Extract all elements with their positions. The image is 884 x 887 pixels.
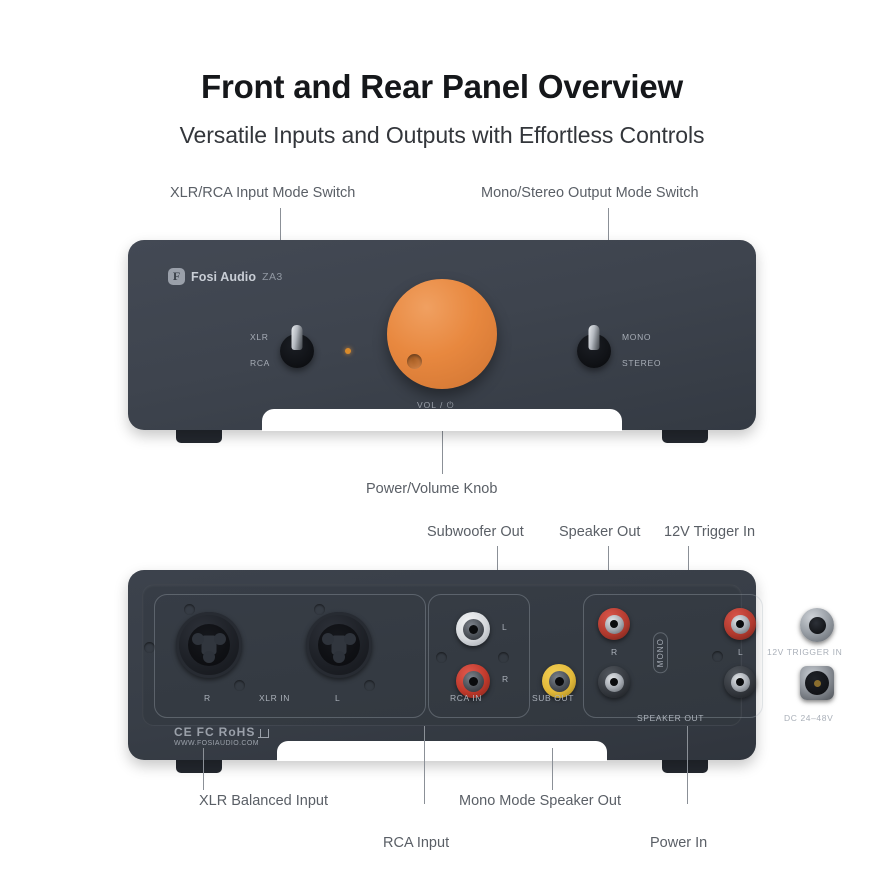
label-xlr-right: R	[204, 693, 211, 703]
page-title: Front and Rear Panel Overview	[0, 68, 884, 106]
dc-power-pin	[814, 680, 821, 687]
label-xlr-left: L	[335, 693, 340, 703]
speaker-post-right-positive-core	[605, 615, 624, 634]
label-speaker-right: R	[611, 647, 618, 657]
xlr-pin-l-1	[322, 633, 334, 645]
callout-xlr-rca-input-mode-switch: XLR/RCA Input Mode Switch	[170, 185, 355, 201]
leader-line-mono-stereo-switch	[608, 208, 609, 242]
callout-12v-trigger-in: 12V Trigger In	[664, 524, 755, 540]
sub-out-ring	[549, 671, 570, 692]
rear-panel-device: R XLR IN L L R RCA IN SUB OUT R L MONO S…	[128, 570, 756, 760]
certification-marks: CE FC RoHS	[174, 725, 268, 739]
switch-label-stereo: STEREO	[622, 358, 661, 368]
switch-label-rca: RCA	[250, 358, 270, 368]
screw-rca-right	[498, 652, 509, 663]
callout-subwoofer-out: Subwoofer Out	[427, 524, 524, 540]
xlr-rca-switch[interactable]	[280, 334, 314, 368]
speaker-post-left-positive-hole	[736, 620, 744, 628]
xlr-pin-l-3	[333, 651, 345, 663]
speaker-post-left-negative[interactable]	[724, 666, 756, 698]
callout-mono-mode-speaker-out: Mono Mode Speaker Out	[459, 793, 621, 809]
rca-input-left[interactable]	[456, 612, 490, 646]
xlr-jack-right[interactable]	[176, 612, 242, 678]
speaker-post-right-negative[interactable]	[598, 666, 630, 698]
brand-name: Fosi Audio	[191, 270, 256, 284]
screw-xlr-r-top	[184, 604, 195, 615]
manufacturer-url: WWW.FOSIAUDIO.COM	[174, 740, 268, 747]
label-sub-out: SUB OUT	[532, 693, 574, 703]
screw-xlr-l-top	[314, 604, 325, 615]
speaker-post-right-negative-core	[605, 673, 624, 692]
label-rca-in: RCA IN	[450, 693, 482, 703]
front-foot-left	[176, 429, 222, 443]
brand-logo: F Fosi Audio ZA3	[168, 268, 283, 285]
label-12v-trigger-in: 12V TRIGGER IN	[767, 647, 842, 657]
callout-power-in: Power In	[650, 835, 707, 851]
mono-stereo-switch[interactable]	[577, 334, 611, 368]
weee-bin-icon	[259, 727, 268, 738]
ce-mark-icon: CE	[174, 725, 193, 739]
fosi-logo-icon: F	[168, 268, 185, 285]
rca-input-right-ring	[463, 671, 484, 692]
rohs-mark-icon: RoHS	[219, 725, 256, 739]
speaker-post-right-positive[interactable]	[598, 608, 630, 640]
screw-xlr-r-left	[144, 642, 155, 653]
brand-model: ZA3	[262, 271, 282, 283]
knob-indicator-dot	[407, 354, 422, 369]
speaker-post-right-positive-hole	[610, 620, 618, 628]
switch-label-xlr: XLR	[250, 332, 269, 342]
fcc-mark-icon: FC	[197, 725, 215, 739]
speaker-post-left-positive[interactable]	[724, 608, 756, 640]
speaker-post-left-negative-hole	[736, 678, 744, 686]
page-subtitle: Versatile Inputs and Outputs with Effort…	[0, 122, 884, 149]
leader-line-rca-input	[424, 726, 425, 804]
xlr-jack-right-inner	[188, 624, 230, 666]
rca-input-right-hole	[469, 677, 478, 686]
sub-out-hole	[555, 677, 564, 686]
power-led-indicator	[345, 348, 351, 354]
certification-block: CE FC RoHS WWW.FOSIAUDIO.COM	[174, 725, 268, 747]
label-speaker-out: SPEAKER OUT	[637, 713, 704, 723]
xlr-pin-2	[214, 633, 226, 645]
leader-line-mono-mode-speaker-out	[552, 748, 553, 790]
speaker-post-left-positive-core	[731, 615, 750, 634]
callout-power-volume-knob: Power/Volume Knob	[366, 481, 497, 497]
front-bottom-lip	[262, 409, 622, 431]
mono-mode-badge: MONO	[653, 632, 668, 673]
rear-foot-left	[176, 759, 222, 773]
screw-rca-left	[436, 652, 447, 663]
xlr-pin-1	[192, 633, 204, 645]
label-xlr-in: XLR IN	[259, 693, 290, 703]
front-foot-right	[662, 429, 708, 443]
trigger-in-jack[interactable]	[800, 608, 834, 642]
label-rca-right: R	[502, 674, 509, 684]
label-dc-voltage: DC 24–48V	[784, 713, 833, 723]
leader-line-power-in	[687, 726, 688, 804]
switch-label-mono: MONO	[622, 332, 651, 342]
xlr-jack-left-inner	[318, 624, 360, 666]
rca-input-left-ring	[463, 619, 484, 640]
label-rca-left: L	[502, 622, 507, 632]
leader-line-xlr-balanced-input	[203, 748, 204, 790]
dc-power-input[interactable]	[800, 666, 834, 700]
callout-rca-input: RCA Input	[383, 835, 449, 851]
trigger-in-hole	[809, 617, 826, 634]
rear-foot-right	[662, 759, 708, 773]
front-panel-device: F Fosi Audio ZA3 XLR RCA VOL / ⏻ MONO ST…	[128, 240, 756, 430]
screw-rear-right	[712, 651, 723, 662]
screw-xlr-r-bottom	[234, 680, 245, 691]
volume-knob[interactable]	[387, 279, 497, 389]
callout-speaker-out: Speaker Out	[559, 524, 640, 540]
xlr-pin-l-2	[344, 633, 356, 645]
rear-bottom-lip	[277, 741, 607, 761]
callout-xlr-balanced-input: XLR Balanced Input	[199, 793, 328, 809]
label-speaker-left: L	[738, 647, 743, 657]
speaker-post-right-negative-hole	[610, 678, 618, 686]
xlr-jack-left[interactable]	[306, 612, 372, 678]
leader-line-xlr-rca-switch	[280, 208, 281, 242]
callout-mono-stereo-output-mode-switch: Mono/Stereo Output Mode Switch	[481, 185, 699, 201]
speaker-post-left-negative-core	[731, 673, 750, 692]
screw-xlr-l-bottom	[364, 680, 375, 691]
dc-power-inner	[805, 671, 829, 695]
rca-input-left-hole	[469, 625, 478, 634]
xlr-pin-3	[203, 651, 215, 663]
